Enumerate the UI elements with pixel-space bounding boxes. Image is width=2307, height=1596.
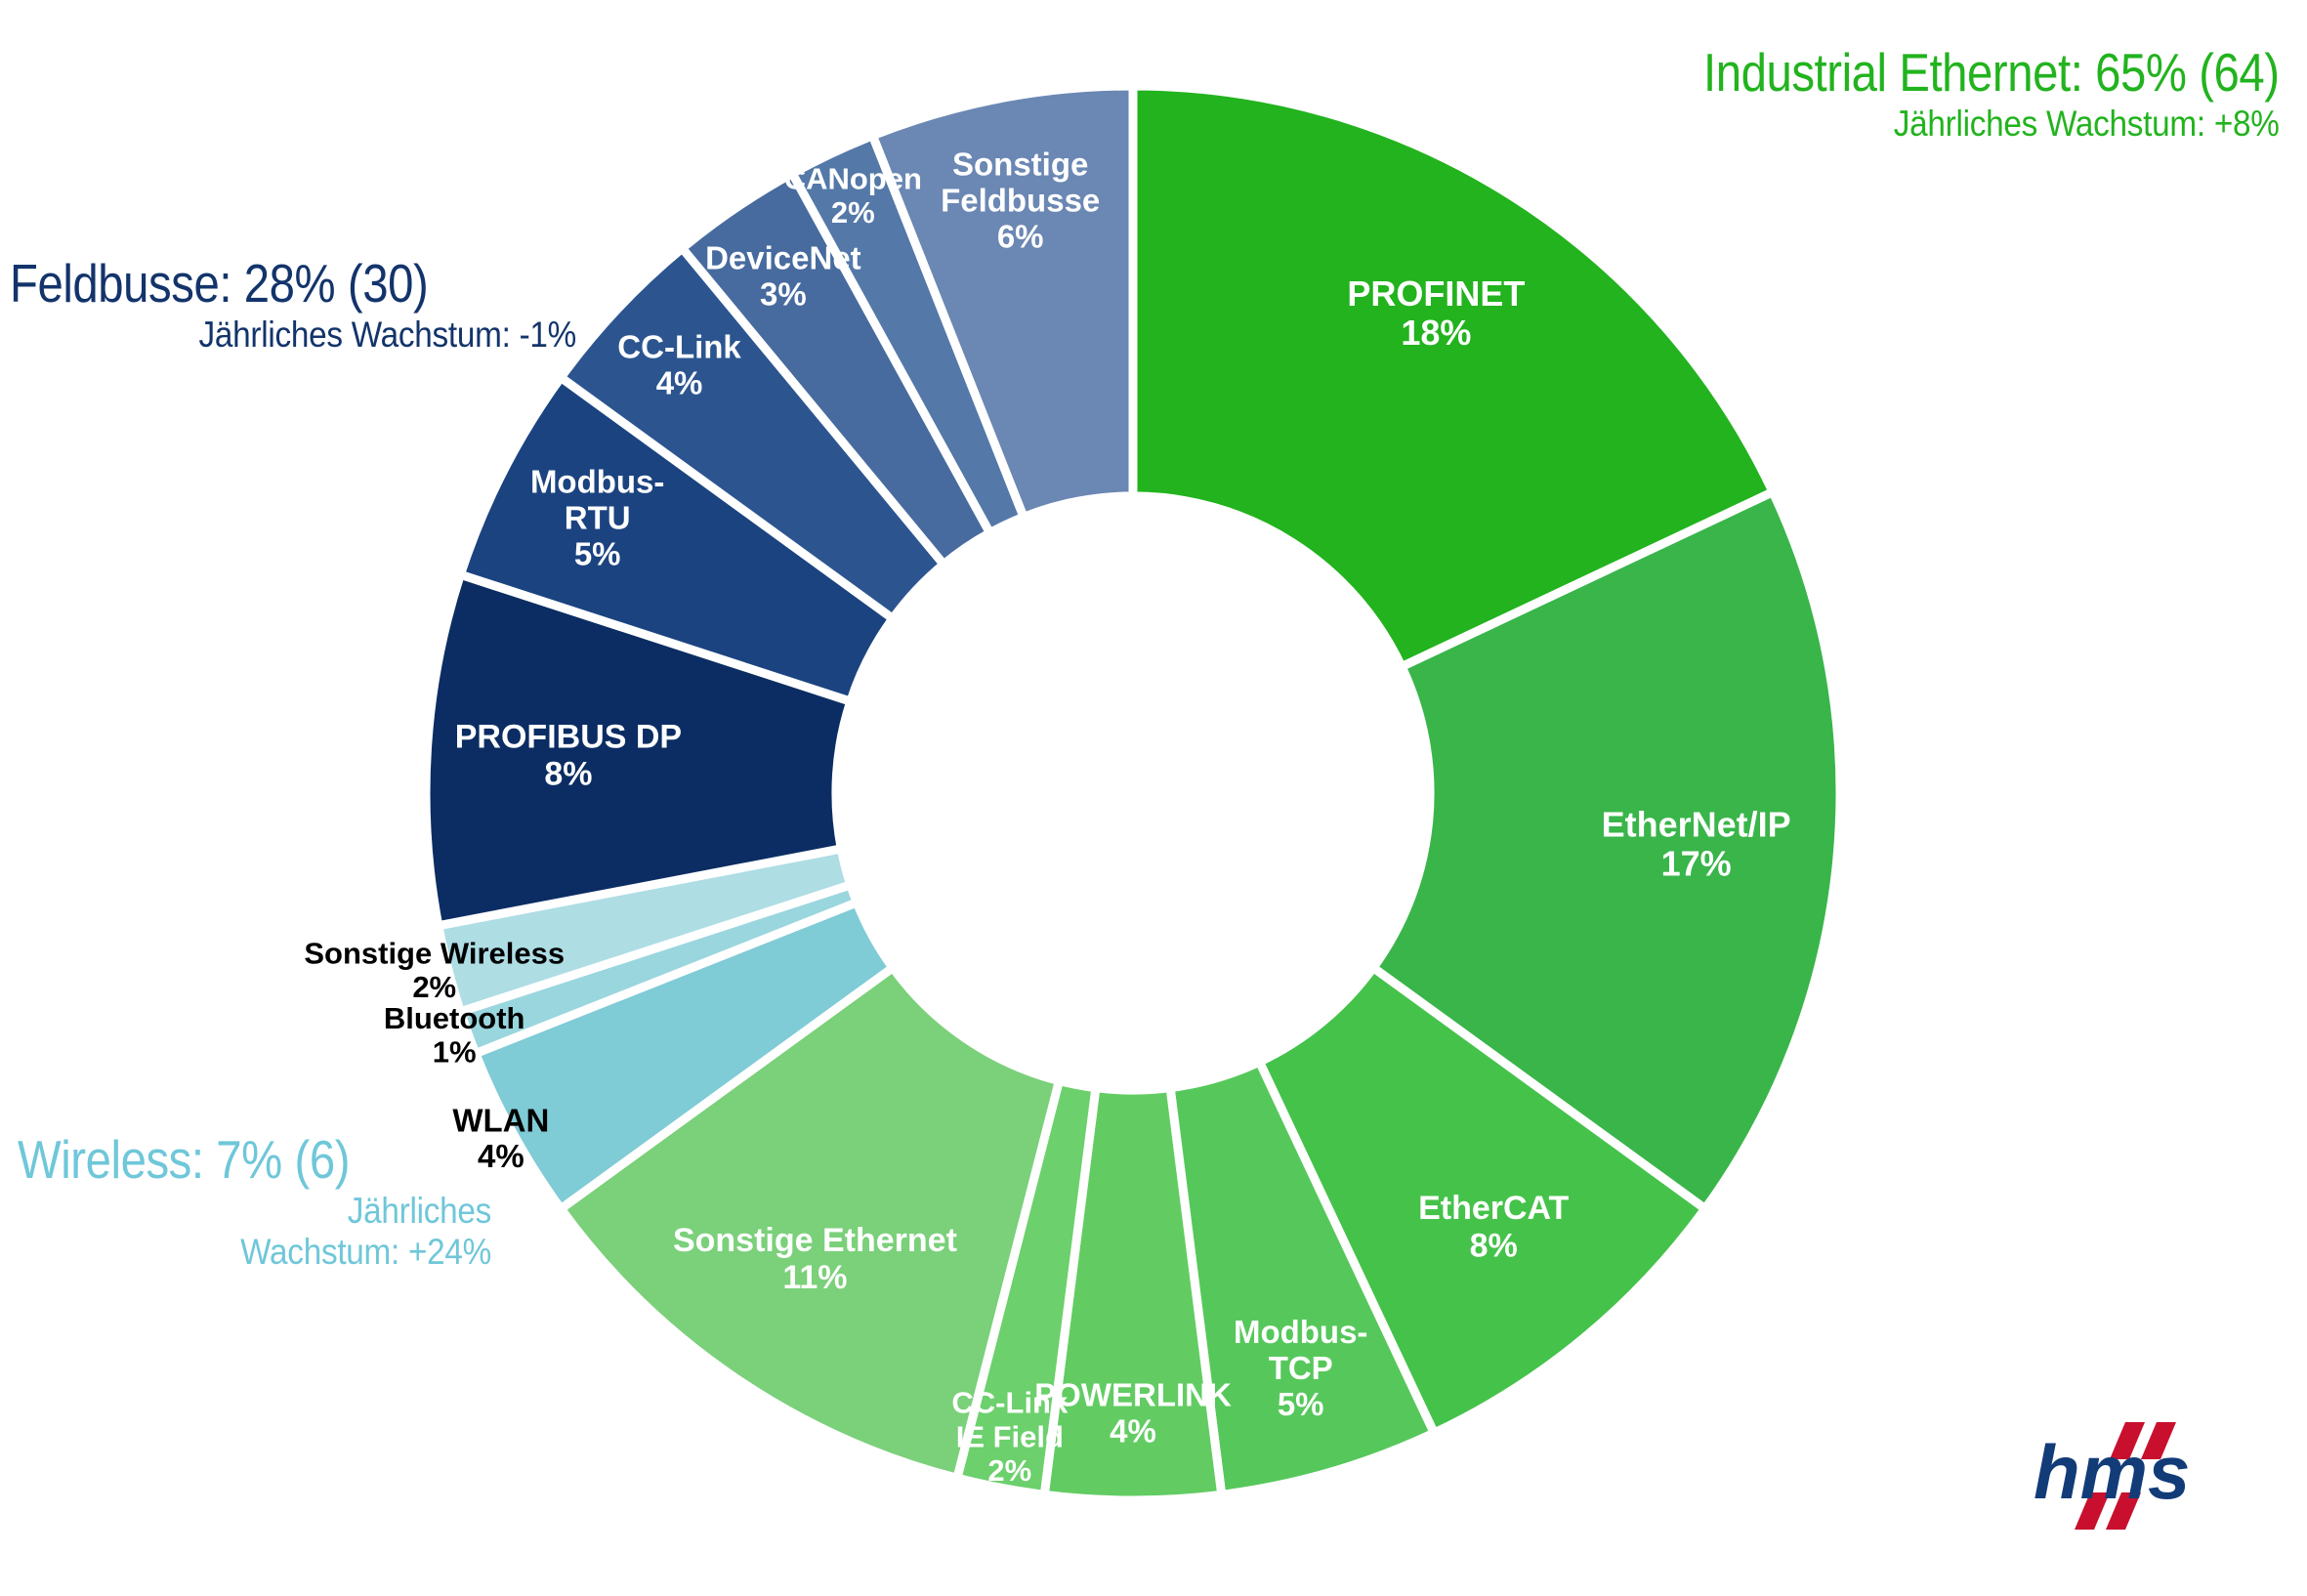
category-growth-fieldbus: Jährliches Wachstum: -1% <box>66 315 576 356</box>
category-label-fieldbus: Feldbusse: 28% (30) Jährliches Wachstum:… <box>10 252 576 356</box>
category-growth-wireless-line2: Wachstum: +24% <box>65 1232 492 1273</box>
category-label-industrial-ethernet: Industrial Ethernet: 65% (64) Jährliches… <box>1610 41 2280 145</box>
category-growth-wireless-line1: Jährliches <box>65 1191 492 1232</box>
category-title-wireless: Wireless: 7% (6) <box>18 1128 425 1191</box>
chart-canvas: PROFINET18%EtherNet/IP17%EtherCAT8%Modbu… <box>0 0 2307 1596</box>
category-title-fieldbus: Feldbusse: 28% (30) <box>10 252 497 315</box>
donut-chart: PROFINET18%EtherNet/IP17%EtherCAT8%Modbu… <box>0 0 2307 1596</box>
hms-logo-text: hms <box>2034 1429 2190 1515</box>
hms-logo: hms <box>2020 1395 2272 1551</box>
donut-slices <box>426 86 1840 1500</box>
category-growth-industrial-ethernet: Jährliches Wachstum: +8% <box>1677 104 2280 145</box>
category-label-wireless: Wireless: 7% (6) Jährliches Wachstum: +2… <box>18 1128 491 1273</box>
category-title-industrial-ethernet: Industrial Ethernet: 65% (64) <box>1703 41 2280 104</box>
